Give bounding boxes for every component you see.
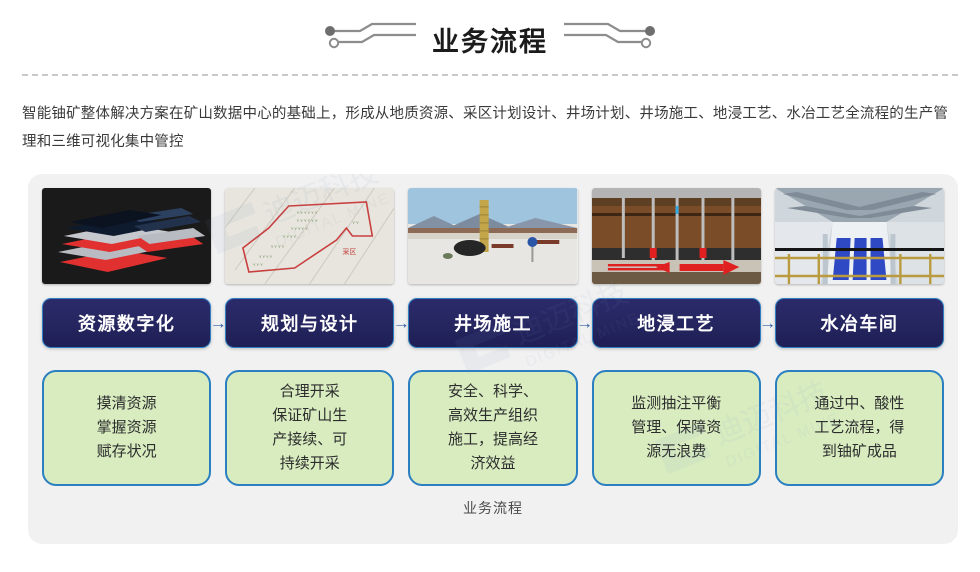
stage-column-4 xyxy=(592,188,761,284)
benefit-card-2: 合理开采 保证矿山生 产接续、可 持续开采 xyxy=(225,370,394,486)
intro-paragraph: 智能铀矿整体解决方案在矿山数据中心的基础上，形成从地质资源、采区计划设计、井场计… xyxy=(22,100,960,156)
arrow-right-icon-3: → xyxy=(578,315,592,332)
stage-box-planning-design[interactable]: 规划与设计 xyxy=(225,298,394,348)
stage-column-3 xyxy=(408,188,577,284)
page-header: 业务流程 xyxy=(0,0,980,78)
benefit-card-1-line-2: 掌握资源 xyxy=(97,416,157,440)
benefit-card-5-line-3: 到铀矿成品 xyxy=(814,440,904,464)
mining-plan-drawing-image: Y Y Y Y Y Y Y Y Y Y Y Y Y Y Y Y Y Y Y Y … xyxy=(225,188,394,284)
benefit-card-3-line-1: 安全、科学、 xyxy=(448,380,538,404)
page-title: 业务流程 xyxy=(432,20,548,59)
benefit-card-5-line-1: 通过中、酸性 xyxy=(814,392,904,416)
in-situ-leaching-cross-section-image xyxy=(592,188,761,284)
arrow-right-icon-1: → xyxy=(211,315,225,332)
benefit-card-5-line-2: 工艺流程，得 xyxy=(814,416,904,440)
benefit-card-3-line-4: 济效益 xyxy=(448,452,538,476)
benefit-card-2-line-4: 持续开采 xyxy=(272,452,347,476)
benefit-card-3-line-2: 高效生产组织 xyxy=(448,404,538,428)
circuit-line-decoration-left-icon xyxy=(322,20,418,59)
stage-box-in-situ-leaching[interactable]: 地浸工艺 xyxy=(592,298,761,348)
svg-text:Y Y Y: Y Y Y xyxy=(253,262,263,267)
svg-text:Y Y Y Y Y Y: Y Y Y Y Y Y xyxy=(297,218,318,223)
stage-cell-2: 规划与设计 → xyxy=(225,298,394,348)
stage-cell-4: 地浸工艺 → xyxy=(592,298,761,348)
wellfield-drilling-site-photo-image xyxy=(408,188,577,284)
stage-box-hydrometallurgy-workshop[interactable]: 水冶车间 xyxy=(775,298,944,348)
benefit-card-4-line-2: 管理、保障资 xyxy=(631,416,721,440)
svg-text:Y Y Y Y Y: Y Y Y Y Y xyxy=(291,226,308,231)
stage-image-row: Y Y Y Y Y Y Y Y Y Y Y Y Y Y Y Y Y Y Y Y … xyxy=(28,174,958,284)
benefit-card-2-line-1: 合理开采 xyxy=(272,380,347,404)
circuit-line-decoration-right-icon xyxy=(562,20,658,59)
stage-column-2: Y Y Y Y Y Y Y Y Y Y Y Y Y Y Y Y Y Y Y Y … xyxy=(225,188,394,284)
panel-caption: 业务流程 xyxy=(28,498,958,518)
stage-cell-3: 井场施工 → xyxy=(408,298,577,348)
stage-box-wellfield-construction[interactable]: 井场施工 xyxy=(408,298,577,348)
svg-text:Y Y Y Y Y Y: Y Y Y Y Y Y xyxy=(297,210,318,215)
stage-column-1 xyxy=(42,188,211,284)
header-dashed-divider xyxy=(22,74,958,76)
benefit-card-row: 摸清资源 掌握资源 赋存状况 合理开采 保证矿山生 产接续、可 持续开采 安全、… xyxy=(28,370,958,486)
benefit-card-2-line-3: 产接续、可 xyxy=(272,428,347,452)
stage-label-row: 资源数字化 → 规划与设计 → 井场施工 → 地浸工艺 → 水冶车间 xyxy=(28,298,958,348)
svg-text:采区: 采区 xyxy=(343,247,357,256)
stage-column-5 xyxy=(775,188,944,284)
benefit-card-1-line-1: 摸清资源 xyxy=(97,392,157,416)
arrow-right-icon-2: → xyxy=(394,315,408,332)
geological-strata-3d-model-image xyxy=(42,188,211,284)
svg-text:Y Y Y Y: Y Y Y Y xyxy=(271,244,285,249)
svg-text:Y Y Y Y: Y Y Y Y xyxy=(259,254,273,259)
hydrometallurgy-workshop-photo-image xyxy=(775,188,944,284)
benefit-card-5: 通过中、酸性 工艺流程，得 到铀矿成品 xyxy=(775,370,944,486)
svg-text:Y Y Y Y: Y Y Y Y xyxy=(283,234,297,239)
benefit-card-3: 安全、科学、 高效生产组织 施工，提高经 济效益 xyxy=(408,370,577,486)
stage-cell-1: 资源数字化 → xyxy=(42,298,211,348)
benefit-card-2-line-2: 保证矿山生 xyxy=(272,404,347,428)
stage-box-resource-digitization[interactable]: 资源数字化 xyxy=(42,298,211,348)
benefit-card-4-line-1: 监测抽注平衡 xyxy=(631,392,721,416)
process-flow-panel: 迪迈科技 DIGITAL MINE 迪迈科技 DIGITAL MINE 迪迈科技… xyxy=(28,174,958,544)
svg-text:Y Y: Y Y xyxy=(353,220,360,225)
benefit-card-4-line-3: 源无浪费 xyxy=(631,440,721,464)
benefit-card-3-line-3: 施工，提高经 xyxy=(448,428,538,452)
benefit-card-4: 监测抽注平衡 管理、保障资 源无浪费 xyxy=(592,370,761,486)
benefit-card-1-line-3: 赋存状况 xyxy=(97,440,157,464)
arrow-right-icon-4: → xyxy=(761,315,775,332)
benefit-card-1: 摸清资源 掌握资源 赋存状况 xyxy=(42,370,211,486)
stage-cell-5: 水冶车间 xyxy=(775,298,944,348)
